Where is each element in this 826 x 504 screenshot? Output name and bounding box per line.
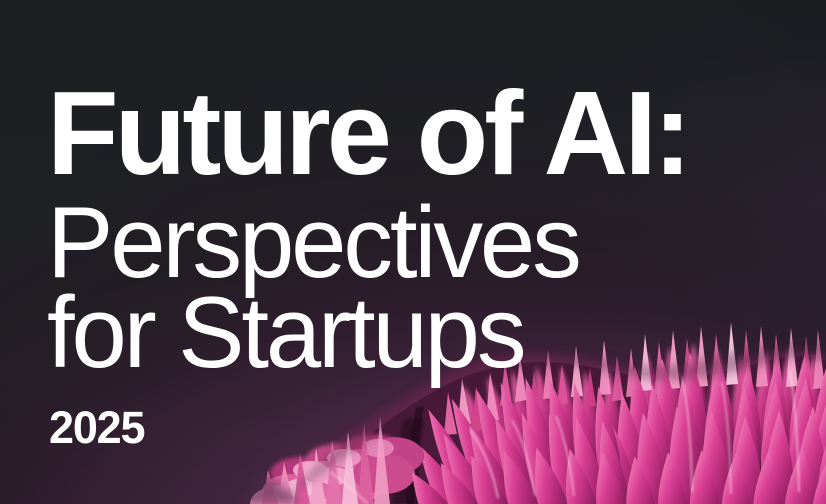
page-subtitle-line-2: for Startups bbox=[47, 283, 523, 384]
cover-page: Future of AI: Perspectives for Startups … bbox=[0, 0, 826, 504]
cover-text-block: Future of AI: Perspectives for Startups … bbox=[0, 0, 826, 504]
page-title: Future of AI: bbox=[47, 74, 688, 193]
publication-year: 2025 bbox=[49, 405, 144, 450]
